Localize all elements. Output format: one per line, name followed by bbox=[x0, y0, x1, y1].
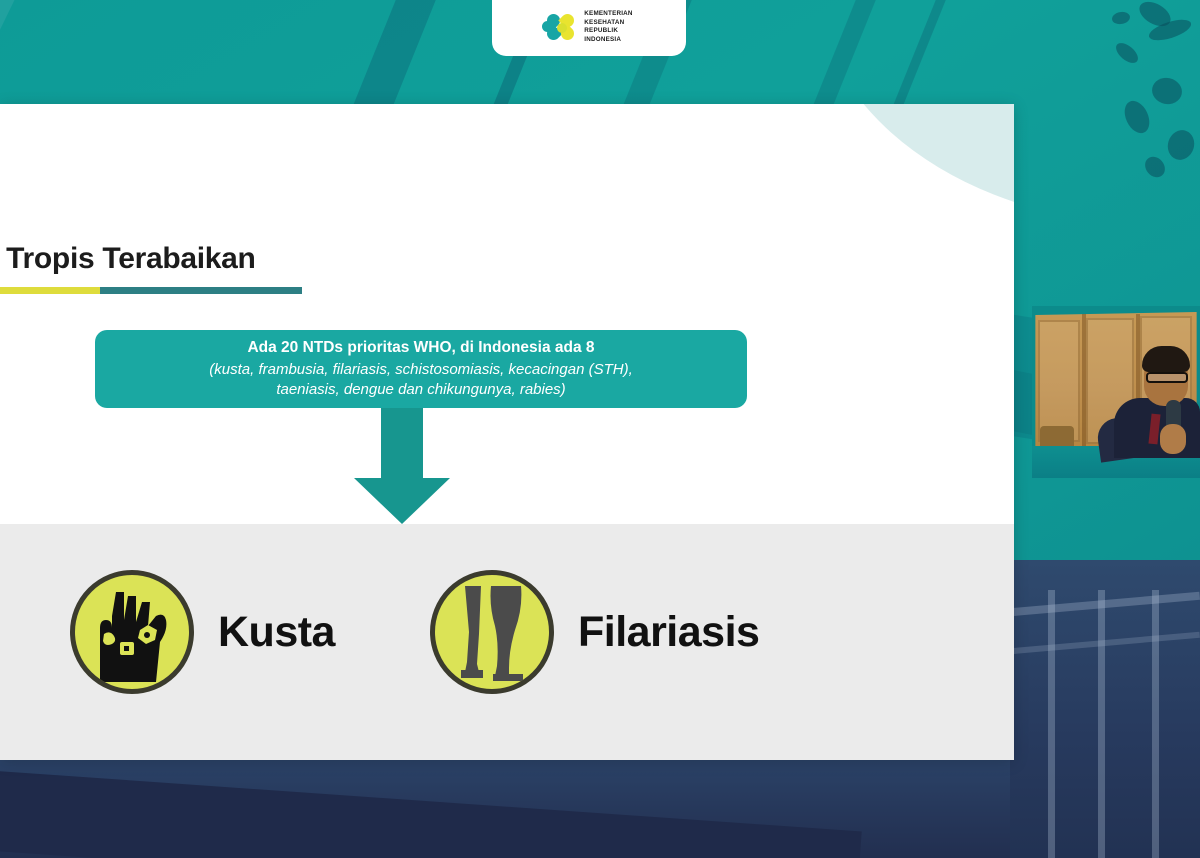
callout-detail-line-2: taeniasis, dengue dan chikungunya, rabie… bbox=[276, 380, 565, 400]
callout-heading: Ada 20 NTDs prioritas WHO, di Indonesia … bbox=[247, 338, 594, 359]
foliage-icon bbox=[1111, 11, 1131, 26]
slide-corner-decoration bbox=[814, 104, 1014, 224]
screen: KEMENTERIAN KESEHATAN REPUBLIK INDONESIA… bbox=[0, 0, 1200, 858]
title-underline-yellow bbox=[0, 287, 100, 294]
ntd-callout-box: Ada 20 NTDs prioritas WHO, di Indonesia … bbox=[95, 330, 747, 408]
kemenkes-logo-badge: KEMENTERIAN KESEHATAN REPUBLIK INDONESIA bbox=[492, 0, 686, 56]
disease-label-kusta: Kusta bbox=[218, 608, 335, 657]
foliage-icon bbox=[1141, 153, 1169, 181]
title-underline-teal bbox=[100, 287, 302, 294]
foliage-icon bbox=[1120, 97, 1154, 137]
logo-line: KEMENTERIAN bbox=[584, 10, 632, 19]
slide-title: kit Tropis Terabaikan bbox=[0, 242, 256, 276]
swollen-leg-icon bbox=[453, 582, 531, 682]
speaker-hand bbox=[1160, 424, 1186, 454]
wall-divider bbox=[1082, 314, 1086, 448]
down-arrow-head-icon bbox=[354, 478, 450, 524]
filariasis-icon-disc bbox=[430, 570, 554, 694]
building-column bbox=[1152, 590, 1159, 858]
disease-item-kusta[interactable]: Kusta bbox=[70, 570, 335, 694]
kemenkes-flower-icon bbox=[545, 11, 577, 43]
hand-lesion-icon bbox=[86, 586, 178, 682]
kemenkes-logo-text: KEMENTERIAN KESEHATAN REPUBLIK INDONESIA bbox=[584, 10, 632, 44]
logo-line: REPUBLIK bbox=[584, 27, 632, 36]
building-column bbox=[1048, 590, 1055, 858]
speaker-hair bbox=[1142, 346, 1190, 372]
speaker-video-tile[interactable] bbox=[1032, 306, 1200, 478]
wall-panel bbox=[1038, 320, 1080, 442]
foliage-icon bbox=[1164, 127, 1198, 164]
building-column bbox=[1098, 590, 1105, 858]
kusta-icon-disc bbox=[70, 570, 194, 694]
callout-detail-line-1: (kusta, frambusia, filariasis, schistoso… bbox=[209, 360, 632, 380]
logo-line: INDONESIA bbox=[584, 36, 632, 45]
presentation-slide[interactable]: kit Tropis Terabaikan Ada 20 NTDs priori… bbox=[0, 104, 1014, 760]
foliage-icon bbox=[1150, 75, 1185, 107]
disease-label-filariasis: Filariasis bbox=[578, 608, 759, 657]
glasses-icon bbox=[1146, 372, 1188, 383]
disease-item-filariasis[interactable]: Filariasis bbox=[430, 570, 759, 694]
foliage-icon bbox=[1113, 39, 1142, 66]
down-arrow-icon bbox=[381, 408, 423, 480]
logo-line: KESEHATAN bbox=[584, 19, 632, 28]
